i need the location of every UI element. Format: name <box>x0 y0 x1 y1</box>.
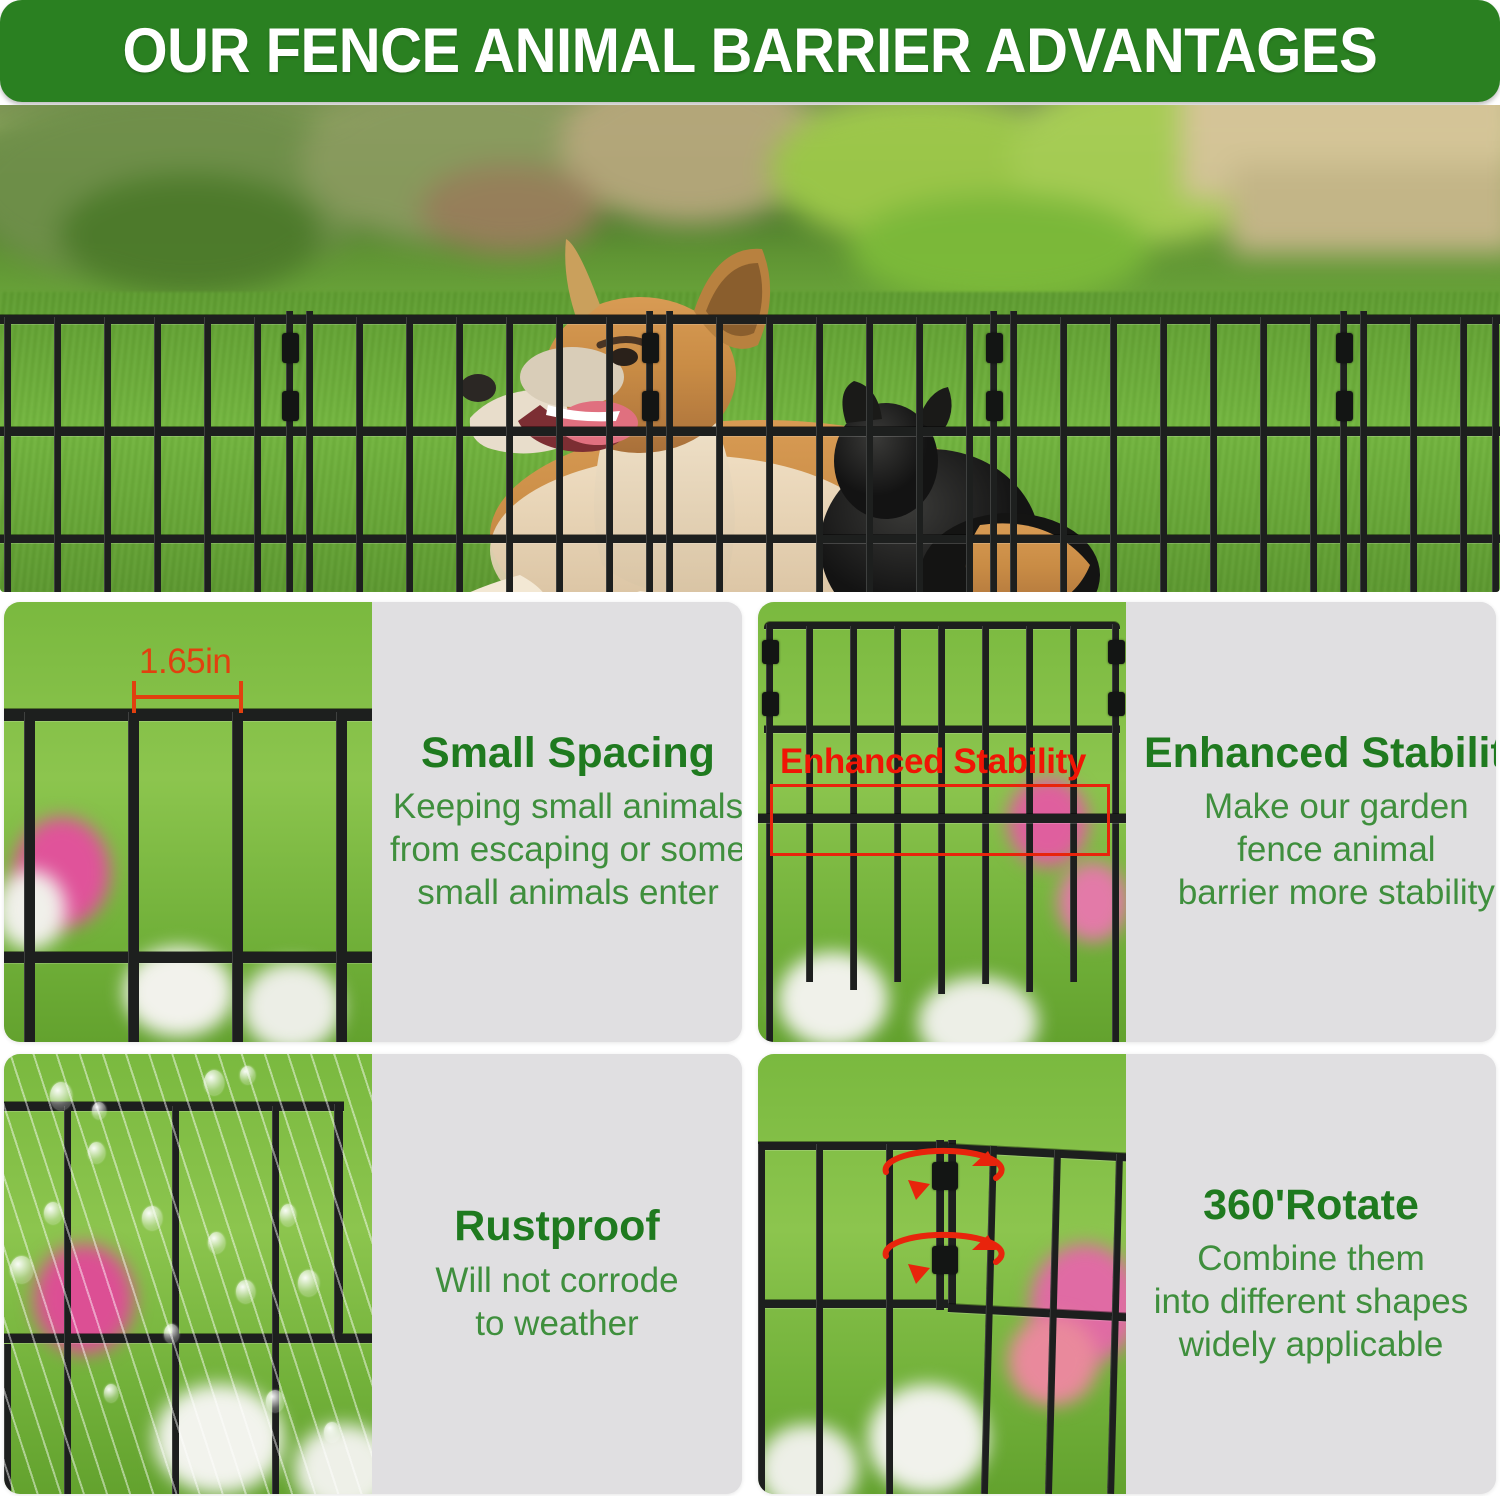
small-spacing-text: Small Spacing Keeping small animals from… <box>372 602 742 1042</box>
desc-line: Will not corrode <box>435 1259 678 1302</box>
desc-line: to weather <box>435 1302 678 1345</box>
infographic-page: OUR FENCE ANIMAL BARRIER ADVANTAGES <box>0 0 1500 1496</box>
dimension-tick-right <box>239 681 243 713</box>
small-spacing-photo: 1.65in <box>4 602 372 1042</box>
water-droplet <box>280 1204 296 1226</box>
rustproof-photo <box>4 1054 372 1494</box>
desc-line: into different shapes <box>1154 1280 1469 1323</box>
enhanced-stability-photo: Enhanced Stability <box>758 602 1126 1042</box>
water-droplet <box>204 1070 224 1095</box>
dimension-tick-left <box>132 681 136 713</box>
water-droplet <box>44 1202 62 1224</box>
water-droplet <box>88 1142 105 1163</box>
water-droplet <box>50 1082 72 1110</box>
water-droplet <box>92 1102 106 1119</box>
feature-title: 360'Rotate <box>1203 1182 1419 1228</box>
stability-highlight-box <box>770 784 1110 856</box>
feature-description: Will not corrode to weather <box>435 1259 678 1345</box>
desc-line: Combine them <box>1154 1237 1469 1280</box>
feature-title: Small Spacing <box>421 730 715 776</box>
stability-callout-text: Enhanced Stability <box>780 742 1086 782</box>
feature-description: Make our garden fence animal barrier mor… <box>1178 785 1495 914</box>
desc-line: barrier more stability <box>1178 871 1495 914</box>
water-droplet <box>240 1066 255 1084</box>
dimension-label: 1.65in <box>139 642 231 682</box>
rustproof-text: Rustproof Will not corrode to weather <box>372 1054 742 1494</box>
desc-line: small animals enter <box>390 871 742 914</box>
feature-title: Enhanced Stability <box>1144 730 1496 776</box>
desc-line: fence animal <box>1178 828 1495 871</box>
water-droplet <box>266 1390 284 1412</box>
feature-card-rustproof[interactable]: Rustproof Will not corrode to weather <box>4 1054 742 1494</box>
water-droplet <box>324 1422 340 1442</box>
rotate-text: 360'Rotate Combine them into different s… <box>1126 1054 1496 1494</box>
feature-card-360-rotate[interactable]: 360'Rotate Combine them into different s… <box>758 1054 1496 1494</box>
water-droplet <box>142 1206 162 1230</box>
hero-fence <box>0 105 1500 592</box>
enhanced-stability-text: Enhanced Stability Make our garden fence… <box>1126 602 1496 1042</box>
rotation-arrows <box>758 1054 1126 1494</box>
dimension-line <box>132 695 243 699</box>
feature-grid: 1.65in Small Spacing Keeping small anima… <box>0 602 1500 1496</box>
header-banner: OUR FENCE ANIMAL BARRIER ADVANTAGES <box>0 0 1500 102</box>
page-title: OUR FENCE ANIMAL BARRIER ADVANTAGES <box>123 15 1378 87</box>
desc-line: from escaping or some <box>390 828 742 871</box>
desc-line: widely applicable <box>1154 1323 1469 1366</box>
water-droplet <box>236 1280 255 1303</box>
water-droplet <box>208 1232 225 1253</box>
feature-description: Combine them into different shapes widel… <box>1154 1237 1469 1366</box>
rotate-photo <box>758 1054 1126 1494</box>
feature-description: Keeping small animals from escaping or s… <box>390 785 742 914</box>
feature-title: Rustproof <box>454 1203 659 1249</box>
rain-overlay <box>4 1054 372 1494</box>
hero-photo <box>0 105 1500 592</box>
feature-card-enhanced-stability[interactable]: Enhanced Stability Enhanced Stability Ma… <box>758 602 1496 1042</box>
water-droplet <box>10 1256 33 1283</box>
water-droplet <box>164 1324 179 1343</box>
desc-line: Make our garden <box>1178 785 1495 828</box>
water-droplet <box>104 1384 118 1402</box>
feature-card-small-spacing[interactable]: 1.65in Small Spacing Keeping small anima… <box>4 602 742 1042</box>
water-droplet <box>298 1270 319 1296</box>
desc-line: Keeping small animals <box>390 785 742 828</box>
